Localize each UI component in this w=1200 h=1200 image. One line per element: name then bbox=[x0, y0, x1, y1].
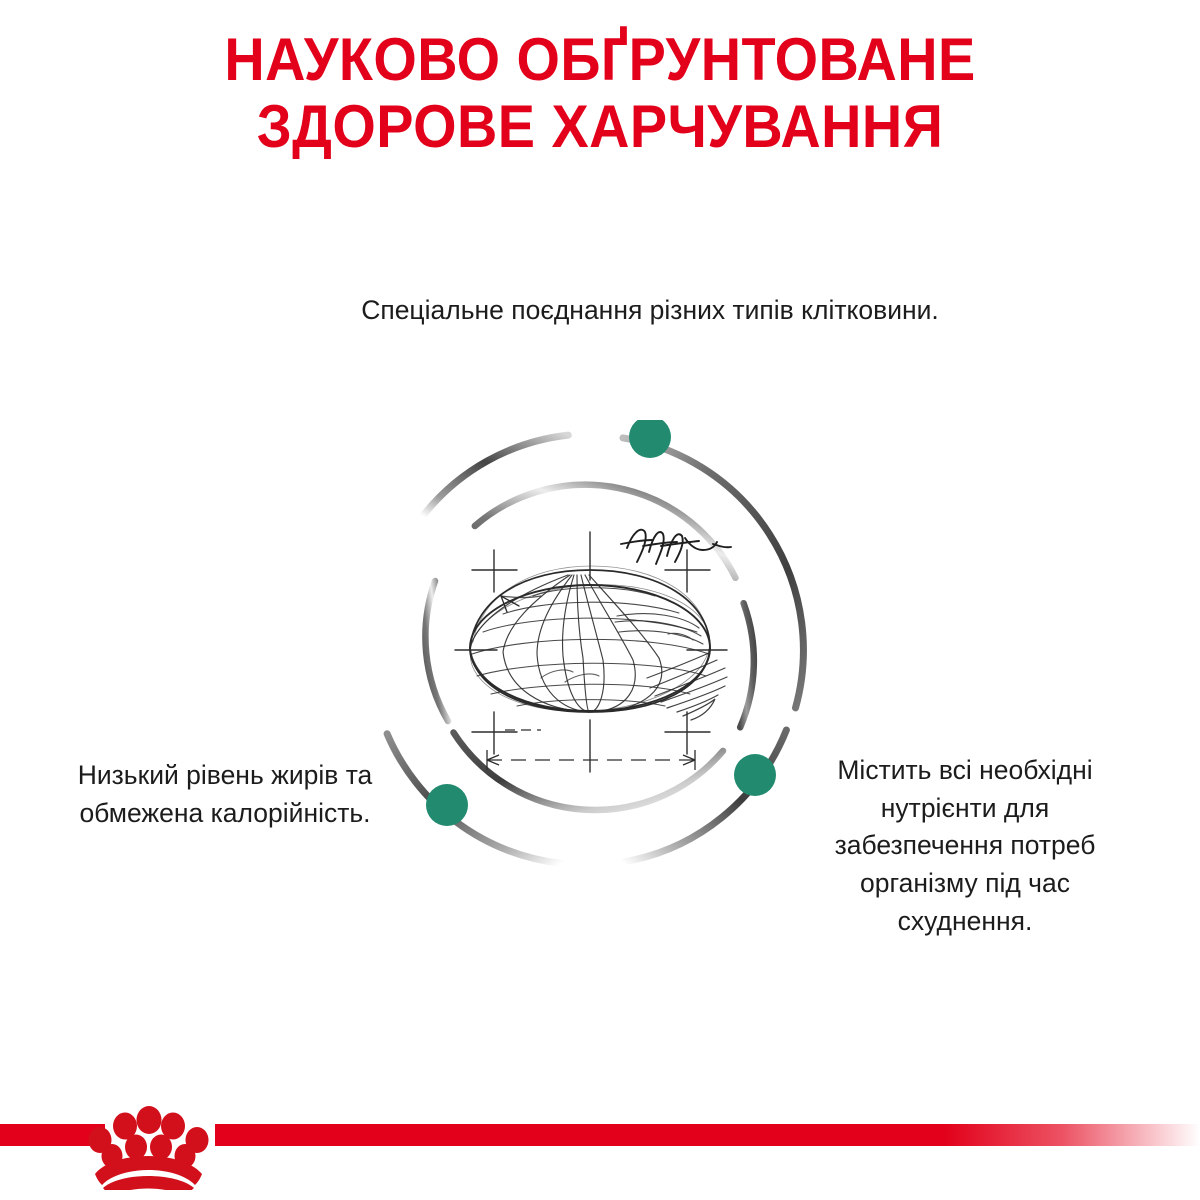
handwritten-annotation bbox=[621, 530, 731, 564]
crown-icon bbox=[78, 1082, 218, 1190]
kibble-sketch-icon bbox=[455, 530, 731, 772]
circular-diagram bbox=[365, 420, 825, 890]
inner-ring-arc-left bbox=[425, 581, 448, 721]
page-title: НАУКОВО ОБҐРУНТОВАНЕ ЗДОРОВЕ ХАРЧУВАННЯ bbox=[0, 26, 1200, 160]
inner-ring-arc-upper bbox=[475, 485, 736, 578]
outer-ring-arc-bottom-right bbox=[623, 730, 787, 862]
callout-label-left: Низький рівень жирів та обмежена калорій… bbox=[55, 757, 395, 832]
outer-ring-arc-top-left bbox=[423, 435, 569, 516]
callout-label-right: Містить всі необхідні нутрієнти для забе… bbox=[800, 752, 1130, 940]
green-dot-left bbox=[426, 784, 468, 826]
title-line-2: ЗДОРОВЕ ХАРЧУВАННЯ bbox=[42, 93, 1158, 160]
footer-bar-right bbox=[215, 1124, 1200, 1146]
title-line-1: НАУКОВО ОБҐРУНТОВАНЕ bbox=[42, 26, 1158, 93]
footer-brand-bar bbox=[0, 1060, 1200, 1200]
inner-ring-arc-right bbox=[740, 603, 754, 727]
green-dot-right bbox=[734, 754, 776, 796]
outer-ring-arc-top-right bbox=[623, 438, 803, 708]
callout-label-top: Спеціальне поєднання різних типів клітко… bbox=[300, 292, 1000, 330]
